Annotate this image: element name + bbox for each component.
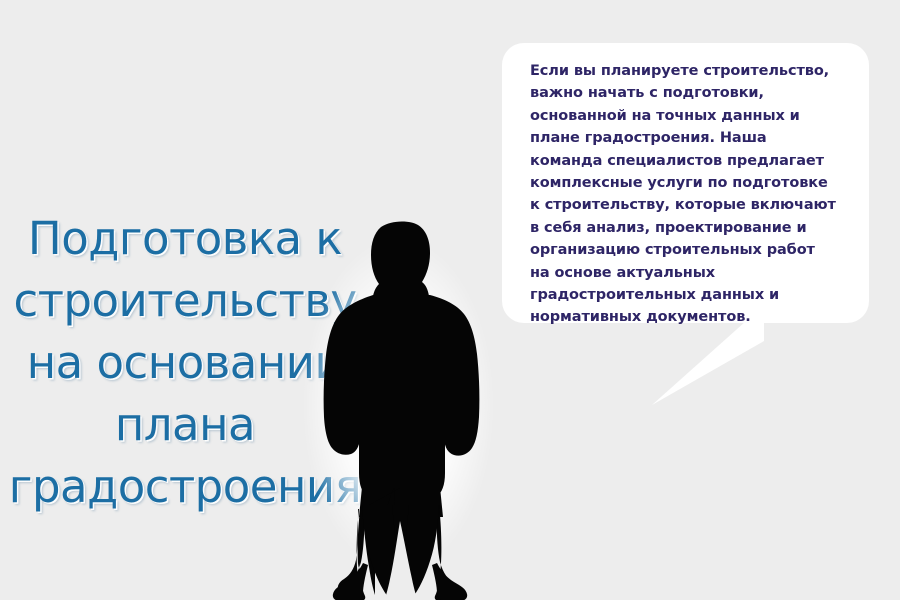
bubble-line-11: градостроительных данных и: [530, 284, 851, 306]
bubble-line-1: Если вы планируете строительство,: [530, 60, 851, 82]
bubble-line-9: организацию строительных работ: [530, 239, 851, 261]
poster-canvas: Подготовка к строительству на основании …: [0, 0, 900, 600]
bubble-line-5: команда специалистов предлагает: [530, 150, 851, 172]
bubble-line-6: комплексные услуги по подготовке: [530, 172, 851, 194]
bubble-line-3: основанной на точных данных и: [530, 105, 851, 127]
bubble-line-2: важно начать с подготовки,: [530, 82, 851, 104]
bubble-line-7: к строительству, которые включают: [530, 194, 851, 216]
bubble-line-12: нормативных документов.: [530, 306, 851, 328]
standing-man-silhouette-icon: [296, 205, 506, 600]
bubble-line-4: плане градостроения. Наша: [530, 127, 851, 149]
speech-bubble-text: Если вы планируете строительство, важно …: [530, 60, 851, 329]
bubble-line-8: в себя анализ, проектирование и: [530, 217, 851, 239]
speech-bubble: Если вы планируете строительство, важно …: [502, 43, 869, 323]
bubble-line-10: на основе актуальных: [530, 262, 851, 284]
